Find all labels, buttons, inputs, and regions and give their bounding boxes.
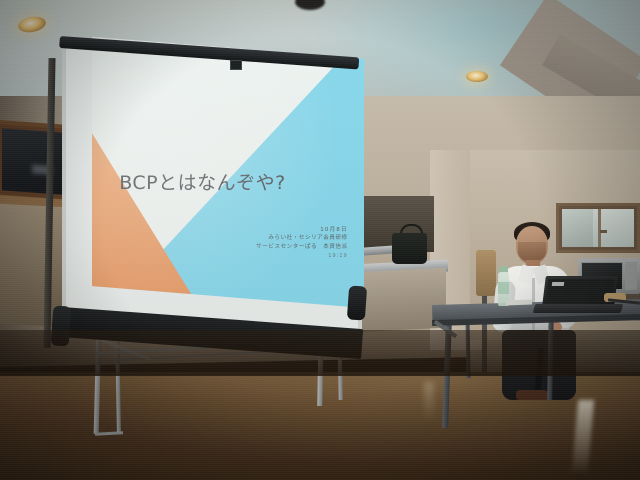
slide-canvas: BCPとはなんぞや? 10月8日 みらい社・セシリア会員研修 サービスセンターぱ… xyxy=(92,34,364,308)
projected-slide: BCPとはなんぞや? 10月8日 みらい社・セシリア会員研修 サービスセンターぱ… xyxy=(92,34,364,308)
slide-meta-date: 10月8日 xyxy=(130,226,348,235)
meeting-room: BCPとはなんぞや? 10月8日 みらい社・セシリア会員研修 サービスセンターぱ… xyxy=(0,0,640,480)
shoe xyxy=(516,390,550,400)
laptop-badge xyxy=(552,282,564,286)
screen-case-bracket xyxy=(230,60,242,70)
microwave-control-panel xyxy=(625,262,637,290)
slide-meta-center: サービスセンターぱる 本資信派 xyxy=(130,243,348,252)
paper-sheet xyxy=(506,300,532,306)
slide-meta-time: 19:19 xyxy=(130,253,348,261)
lower-wall-shadow xyxy=(0,330,640,376)
slide-meta-block: 10月8日 みらい社・セシリア会員研修 サービスセンターぱる 本資信派 19:1… xyxy=(130,226,348,261)
screen-endcap-right xyxy=(347,285,367,320)
slide-meta-org: みらい社・セシリア会員研修 xyxy=(130,234,348,243)
dark-desk-object xyxy=(586,294,604,303)
face-shadow xyxy=(518,242,546,262)
floor-reflection-soft xyxy=(424,382,434,422)
window-handle-icon xyxy=(600,230,607,233)
handbag xyxy=(392,233,427,264)
downlight-icon-right xyxy=(466,71,488,82)
projector-screen: BCPとはなんぞや? 10月8日 みらい社・セシリア会員研修 サービスセンターぱ… xyxy=(52,22,372,352)
window-mullion xyxy=(598,209,601,247)
photo-scene: BCPとはなんぞや? 10月8日 みらい社・セシリア会員研修 サービスセンターぱ… xyxy=(0,0,640,480)
laptop-keyboard-base xyxy=(533,304,624,313)
bottle-label xyxy=(498,282,509,294)
slide-title: BCPとはなんぞや? xyxy=(119,168,353,195)
